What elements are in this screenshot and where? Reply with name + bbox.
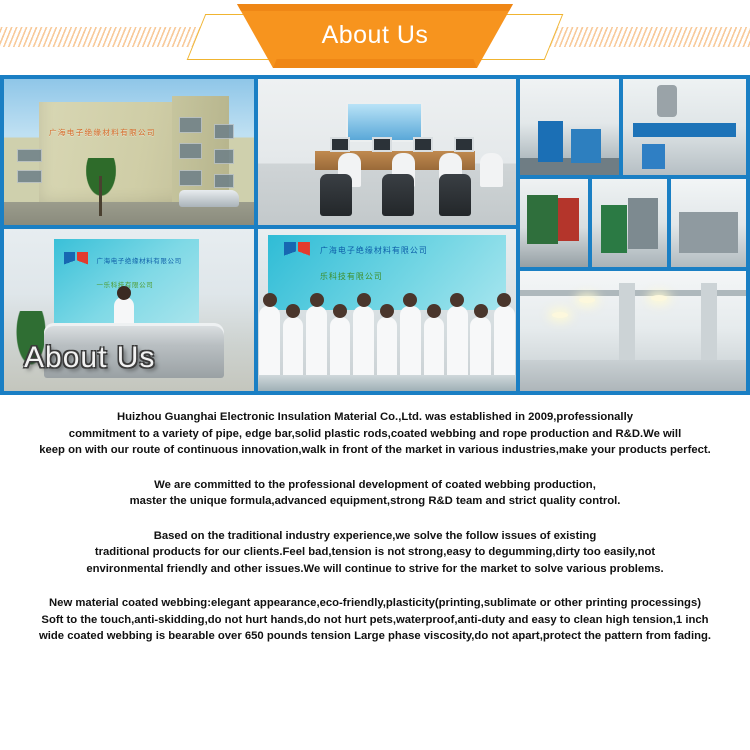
window-shape [214, 124, 234, 139]
photo-gallery: 广海电子绝缘材料有限公司 [0, 75, 750, 395]
photo-team-group: 广海电子绝缘材料有限公司 乐科技有限公司 [258, 229, 516, 391]
tank-shape [657, 85, 677, 118]
person-shape [494, 306, 515, 375]
gallery-row-top: 广海电子绝缘材料有限公司 [4, 79, 516, 225]
ceiling-lamp-icon [651, 295, 667, 301]
monitor-shape [454, 137, 474, 152]
page-header: About Us [0, 0, 750, 75]
about-us-body: Huizhou Guanghai Electronic Insulation M… [0, 395, 750, 645]
banner-plaque: About Us [225, 4, 525, 68]
window-shape [214, 174, 234, 189]
person-shape [259, 306, 280, 375]
hatch-pattern-right-icon [542, 27, 750, 47]
sailboat-logo-icon [284, 242, 310, 264]
ceiling-lamp-icon [579, 297, 595, 303]
machine-shape [527, 195, 558, 244]
photo-machinery-3 [671, 179, 746, 267]
ceiling-lamp-icon [552, 312, 568, 318]
photo-production-line-1 [520, 79, 619, 175]
monitor-shape [330, 137, 350, 152]
person-shape [470, 317, 491, 375]
sailboat-logo-icon [64, 252, 88, 272]
window-shape [179, 117, 202, 133]
paragraph-3: Based on the traditional industry experi… [6, 528, 744, 578]
person-shape [306, 306, 327, 375]
factory-sign-text: 广海电子绝缘材料有限公司 [49, 127, 156, 138]
machine-shape [538, 121, 564, 161]
machine-shape [558, 198, 578, 240]
paragraph-2: We are committed to the professional dev… [6, 477, 744, 510]
glass-counter-shape [258, 375, 516, 391]
window-shape [214, 149, 234, 164]
window-shape [179, 170, 202, 186]
monitor-shape [372, 137, 392, 152]
monitor-shape [413, 137, 433, 152]
photo-machinery-1 [520, 179, 588, 267]
photo-warehouse-floor [520, 271, 746, 391]
machine-shape [601, 205, 626, 253]
person-shape [400, 306, 421, 375]
photo-reception-lobby: 广海电子绝缘材料有限公司 一乐科技有限公司 About Us [4, 229, 254, 391]
office-chair-shape [382, 174, 414, 216]
team-members-row [258, 300, 516, 375]
paragraph-1: Huizhou Guanghai Electronic Insulation M… [6, 409, 744, 459]
gallery-left-column: 广海电子绝缘材料有限公司 [4, 79, 516, 391]
page-title: About Us [225, 4, 525, 68]
machine-shape [628, 198, 658, 249]
workbench-shape [520, 158, 619, 175]
office-chair-shape [439, 174, 471, 216]
person-shape [447, 306, 468, 375]
gallery-right-column [520, 79, 746, 391]
window-shape [179, 143, 202, 159]
wall-screen-shape [346, 102, 423, 141]
person-shape [424, 317, 445, 375]
office-chair-shape [320, 174, 352, 216]
machine-shape [571, 129, 601, 164]
photo-factory-exterior: 广海电子绝缘材料有限公司 [4, 79, 254, 225]
seated-person-shape [480, 153, 503, 187]
photo-machinery-2 [592, 179, 667, 267]
photo-office-workstations [258, 79, 516, 225]
pillar-shape [619, 283, 635, 372]
window-shape [17, 170, 42, 183]
window-shape [17, 149, 42, 162]
hatch-pattern-left-icon [0, 27, 208, 47]
palm-tree-icon [74, 158, 128, 216]
pillar-shape [701, 283, 717, 372]
bin-shape [642, 144, 664, 169]
person-shape [377, 317, 398, 375]
gallery-row-bottom: 广海电子绝缘材料有限公司 一乐科技有限公司 About Us 广海电子绝缘材料有… [4, 229, 516, 391]
parked-car-shape [179, 190, 239, 207]
paragraph-4: New material coated webbing:elegant appe… [6, 595, 744, 645]
person-shape [330, 317, 351, 375]
gallery-overlay-caption: About Us [24, 341, 155, 375]
person-shape [353, 306, 374, 375]
warehouse-floor-shape [520, 360, 746, 391]
gallery-right-row-mid [520, 179, 746, 267]
team-sign-text: 广海电子绝缘材料有限公司 [320, 245, 428, 256]
conveyor-shape [633, 123, 737, 136]
machine-shape [679, 212, 739, 252]
team-sign-text-2: 乐科技有限公司 [320, 271, 383, 282]
gallery-right-row-top [520, 79, 746, 175]
person-shape [283, 317, 304, 375]
photo-production-line-2 [623, 79, 746, 175]
reception-sign-text: 广海电子绝缘材料有限公司 [97, 255, 182, 265]
